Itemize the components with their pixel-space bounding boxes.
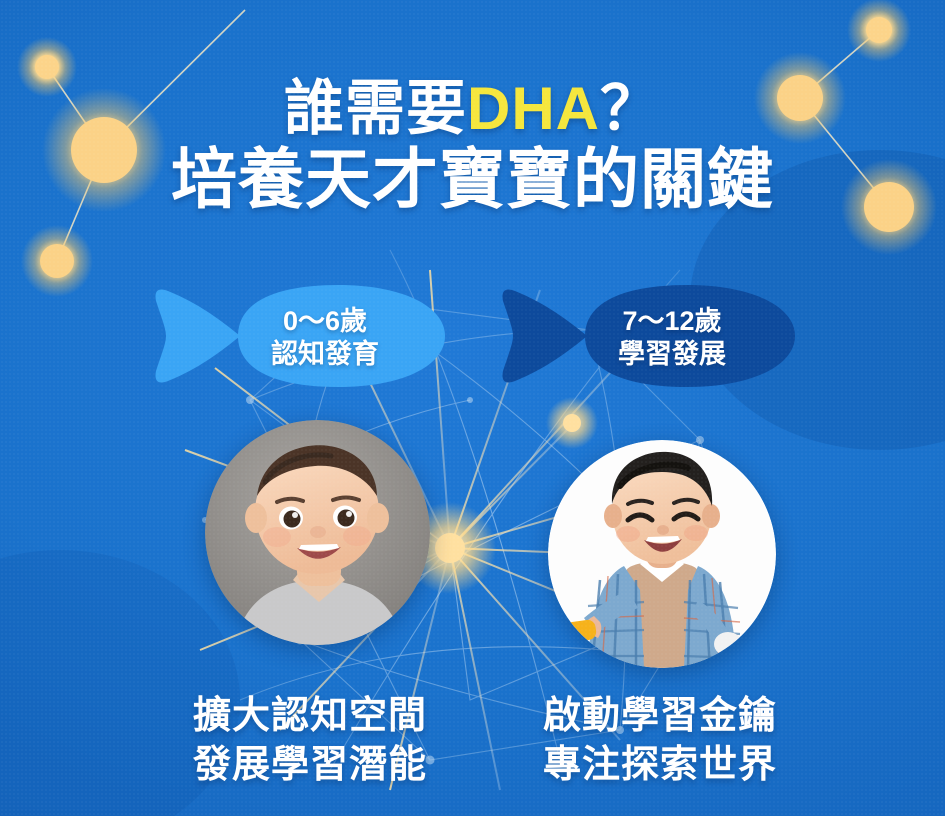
badge-label-0-6: 0～6歲 認知發育 (230, 305, 420, 371)
badge-age-range: 0～6歲 (230, 305, 420, 338)
title-text-before: 誰需要 (284, 75, 467, 142)
caption-left-line-2: 發展學習潛能 (130, 741, 490, 790)
poster-title: 誰需要DHA？ 培養天才寶寶的關鍵 (0, 78, 945, 214)
badge-age-0-6: 0～6歲 認知發育 (152, 281, 449, 396)
title-text-after: ？ (600, 75, 661, 142)
caption-left: 擴大認知空間 發展學習潛能 (130, 692, 490, 789)
caption-right: 啟動學習金鑰 專注探索世界 (465, 692, 855, 789)
title-dha-highlight: DHA (467, 75, 600, 142)
badge-label-7-12: 7～12歲 學習發展 (577, 305, 767, 371)
badge-topic: 學習發展 (577, 338, 767, 371)
photo-boy (548, 440, 776, 668)
baby-portrait-illustration (205, 420, 430, 645)
badge-age-range: 7～12歲 (577, 305, 767, 338)
badge-topic: 認知發育 (230, 338, 420, 371)
caption-left-line-1: 擴大認知空間 (130, 692, 490, 741)
caption-right-line-2: 專注探索世界 (465, 741, 855, 790)
boy-portrait-illustration (548, 440, 776, 668)
badge-age-7-12: 7～12歲 學習發展 (489, 281, 799, 396)
caption-right-line-1: 啟動學習金鑰 (465, 692, 855, 741)
title-line-2: 培養天才寶寶的關鍵 (0, 146, 945, 214)
poster-canvas: 誰需要DHA？ 培養天才寶寶的關鍵 0～6歲 認知發育 7～12歲 學習發展 (0, 0, 945, 816)
title-line-1: 誰需要DHA？ (0, 78, 945, 140)
photo-baby (205, 420, 430, 645)
